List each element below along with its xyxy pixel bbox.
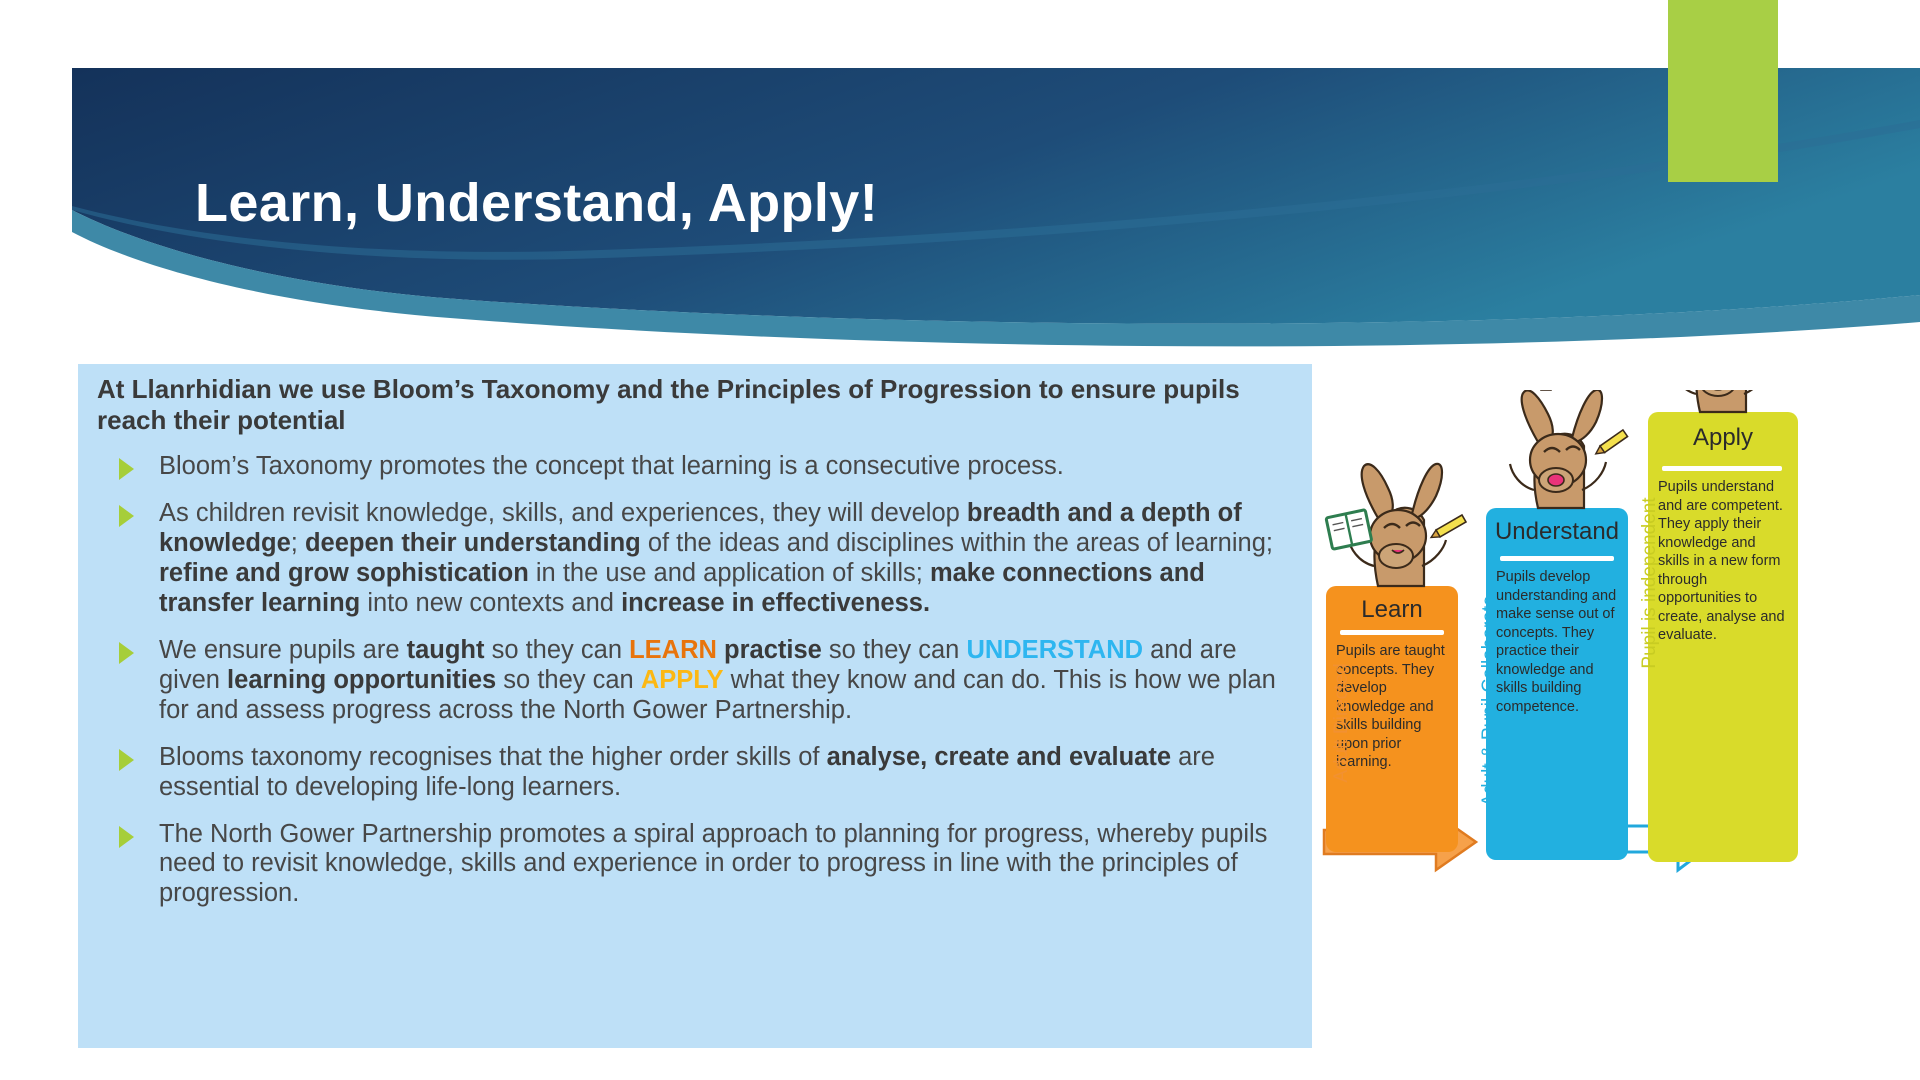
bullet-text-segment: ; [291, 529, 305, 557]
diagram-understand-body: Pupils develop understanding and make se… [1496, 568, 1620, 716]
bullet-text-segment: so they can [485, 636, 630, 664]
page-title: Learn, Understand, Apply! [195, 172, 878, 234]
bullet-revisit-knowledge: As children revisit knowledge, skills, a… [97, 499, 1297, 619]
content-panel: At Llanrhidian we use Bloom’s Taxonomy a… [78, 364, 1312, 1048]
bullet-text-segment: Blooms taxonomy recognises that the high… [159, 743, 827, 771]
bullet-text-segment: LEARN [629, 636, 717, 664]
bullet-text-segment: taught [407, 636, 485, 664]
bullet-spiral-approach: The North Gower Partnership promotes a s… [97, 820, 1297, 910]
bullet-arrow-icon [119, 749, 134, 771]
bullet-text-segment: analyse, create and evaluate [827, 743, 1171, 771]
bullet-text-segment: practise [724, 636, 822, 664]
bullet-higher-order-skills: Blooms taxonomy recognises that the high… [97, 743, 1297, 803]
bullet-text-segment: Bloom’s Taxonomy promotes the concept th… [159, 452, 1064, 480]
bullet-text-segment: The North Gower Partnership promotes a s… [159, 820, 1267, 908]
slide-header-banner: Learn, Understand, Apply! [0, 0, 1920, 360]
green-accent-tab [1668, 0, 1778, 182]
bullet-arrow-icon [119, 642, 134, 664]
bullet-text-segment: UNDERSTAND [966, 636, 1143, 664]
diagram-learn-side-label: Adult Directed [1331, 633, 1353, 813]
bullet-text-segment: refine and grow sophistication [159, 559, 529, 587]
bullet-arrow-icon [119, 458, 134, 480]
diagram-learn-heading: Learn [1326, 596, 1458, 624]
bullet-text-segment: into new contexts and [360, 589, 621, 617]
bullet-arrow-icon [119, 826, 134, 848]
presentation-slide: Learn, Understand, Apply! At Llanrhidian… [0, 0, 1920, 1080]
bullet-arrow-icon [119, 505, 134, 527]
learn-understand-apply-diagram: Learn Pupils are taught concepts. They d… [1318, 390, 1898, 990]
bullet-text-segment [717, 636, 724, 664]
diagram-learn-body: Pupils are taught concepts. They develop… [1336, 642, 1450, 772]
diagram-understand-heading: Understand [1486, 518, 1628, 546]
bullet-text-segment: of the ideas and disciplines within the … [641, 529, 1273, 557]
bullet-text-segment: deepen their understanding [305, 529, 641, 557]
bullet-text-segment: As children revisit knowledge, skills, a… [159, 499, 967, 527]
diagram-apply-heading: Apply [1648, 424, 1798, 452]
diagram-apply-side-label: Pupil is independent [1639, 473, 1661, 693]
bullet-text-segment: We ensure pupils are [159, 636, 407, 664]
bullet-text-segment: so they can [496, 666, 641, 694]
bullet-taught-practise-apply: We ensure pupils are taught so they can … [97, 636, 1297, 726]
bullet-consecutive-process: Bloom’s Taxonomy promotes the concept th… [97, 452, 1297, 482]
bullet-text-segment: learning opportunities [227, 666, 496, 694]
bullet-text-segment: so they can [822, 636, 967, 664]
diagram-apply-body: Pupils understand and are competent. The… [1658, 478, 1790, 645]
bullet-list: Bloom’s Taxonomy promotes the concept th… [97, 452, 1297, 926]
lead-paragraph: At Llanrhidian we use Bloom’s Taxonomy a… [97, 374, 1277, 435]
bullet-text-segment: APPLY [641, 666, 724, 694]
diagram-understand-side-label: Adult & Pupil Collaborate [1479, 571, 1501, 831]
bullet-text-segment: increase in effectiveness. [621, 589, 930, 617]
bullet-text-segment: in the use and application of skills; [529, 559, 930, 587]
